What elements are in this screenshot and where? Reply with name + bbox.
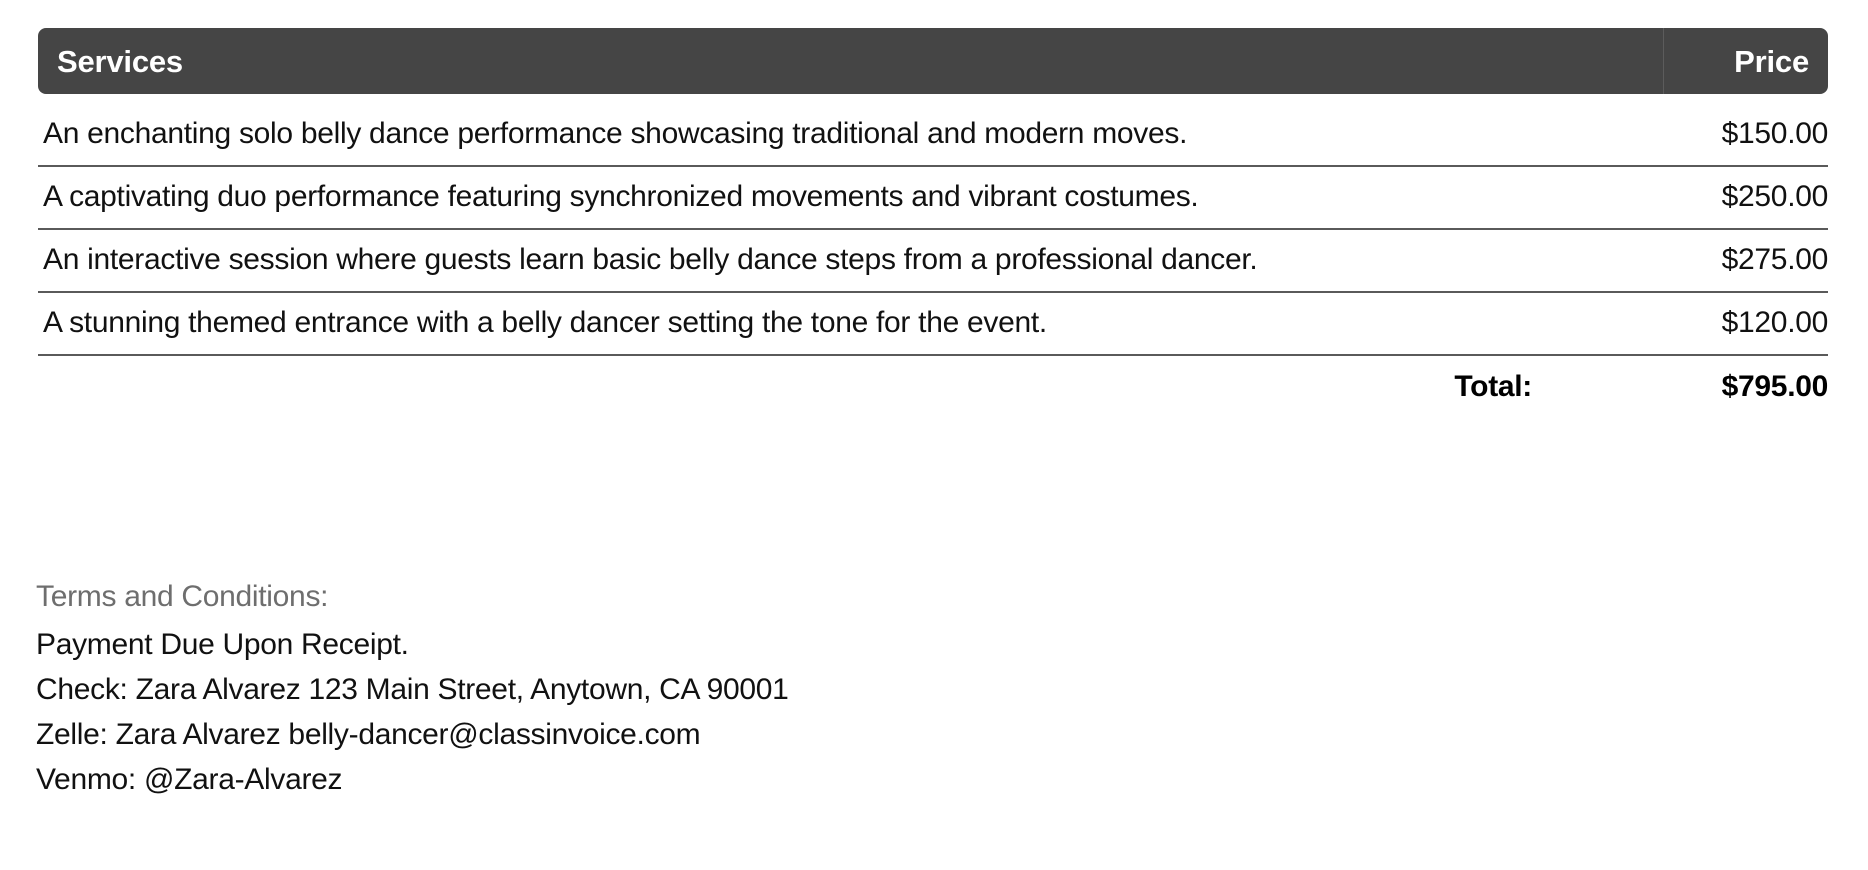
service-description: A captivating duo performance featuring … [43,180,1618,215]
service-price: $120.00 [1618,306,1828,341]
table-row: An enchanting solo belly dance performan… [38,104,1828,167]
service-description: An interactive session where guests lear… [43,243,1618,278]
column-header-services: Services [38,46,1663,77]
terms-and-conditions-section: Terms and Conditions: Payment Due Upon R… [36,582,1236,795]
table-header-row: Services Price [38,28,1828,94]
table-body: An enchanting solo belly dance performan… [38,104,1828,418]
service-price: $250.00 [1618,180,1828,215]
service-description: A stunning themed entrance with a belly … [43,306,1618,341]
service-description: An enchanting solo belly dance performan… [43,117,1618,152]
terms-line-check: Check: Zara Alvarez 123 Main Street, Any… [36,675,1236,705]
column-header-price: Price [1664,46,1828,77]
table-row: An interactive session where guests lear… [38,230,1828,293]
service-price: $275.00 [1618,243,1828,278]
terms-heading: Terms and Conditions: [36,582,1236,612]
terms-line-venmo: Venmo: @Zara-Alvarez [36,765,1236,795]
service-price: $150.00 [1618,117,1828,152]
total-value: $795.00 [1618,370,1828,404]
terms-line-payment: Payment Due Upon Receipt. [36,630,1236,660]
table-row: A captivating duo performance featuring … [38,167,1828,230]
services-price-table: Services Price An enchanting solo belly … [38,28,1828,418]
invoice-page: Services Price An enchanting solo belly … [0,0,1868,870]
table-total-row: Total: $795.00 [38,356,1828,418]
terms-line-zelle: Zelle: Zara Alvarez belly-dancer@classin… [36,720,1236,750]
table-row: A stunning themed entrance with a belly … [38,293,1828,356]
total-label: Total: [1454,370,1618,404]
